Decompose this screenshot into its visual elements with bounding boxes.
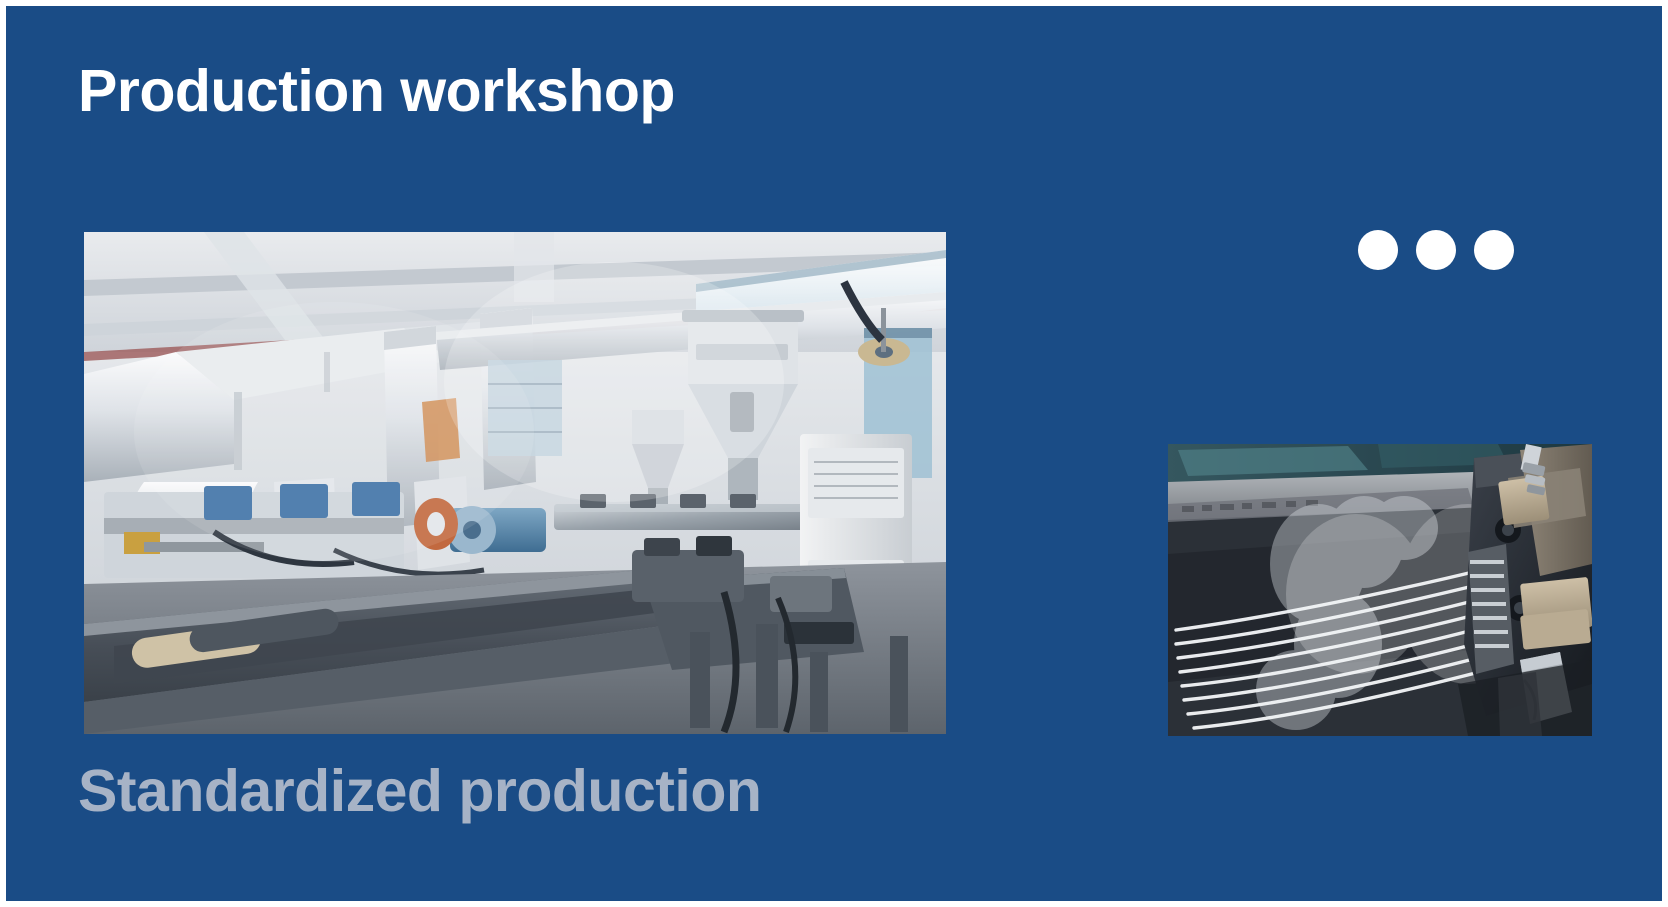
slide-caption: Standardized production [78,758,761,826]
decorative-dot-2 [1416,230,1456,270]
slide-canvas: Production workshop [0,0,1668,907]
page-title: Production workshop [78,58,675,126]
decorative-dots-group [1358,230,1514,270]
production-line-photo-graphic [84,232,946,734]
production-line-photo [84,232,946,734]
strand-cooling-photo-graphic [1168,444,1592,736]
strand-cooling-photo [1168,444,1592,736]
decorative-dot-3 [1474,230,1514,270]
decorative-dot-1 [1358,230,1398,270]
